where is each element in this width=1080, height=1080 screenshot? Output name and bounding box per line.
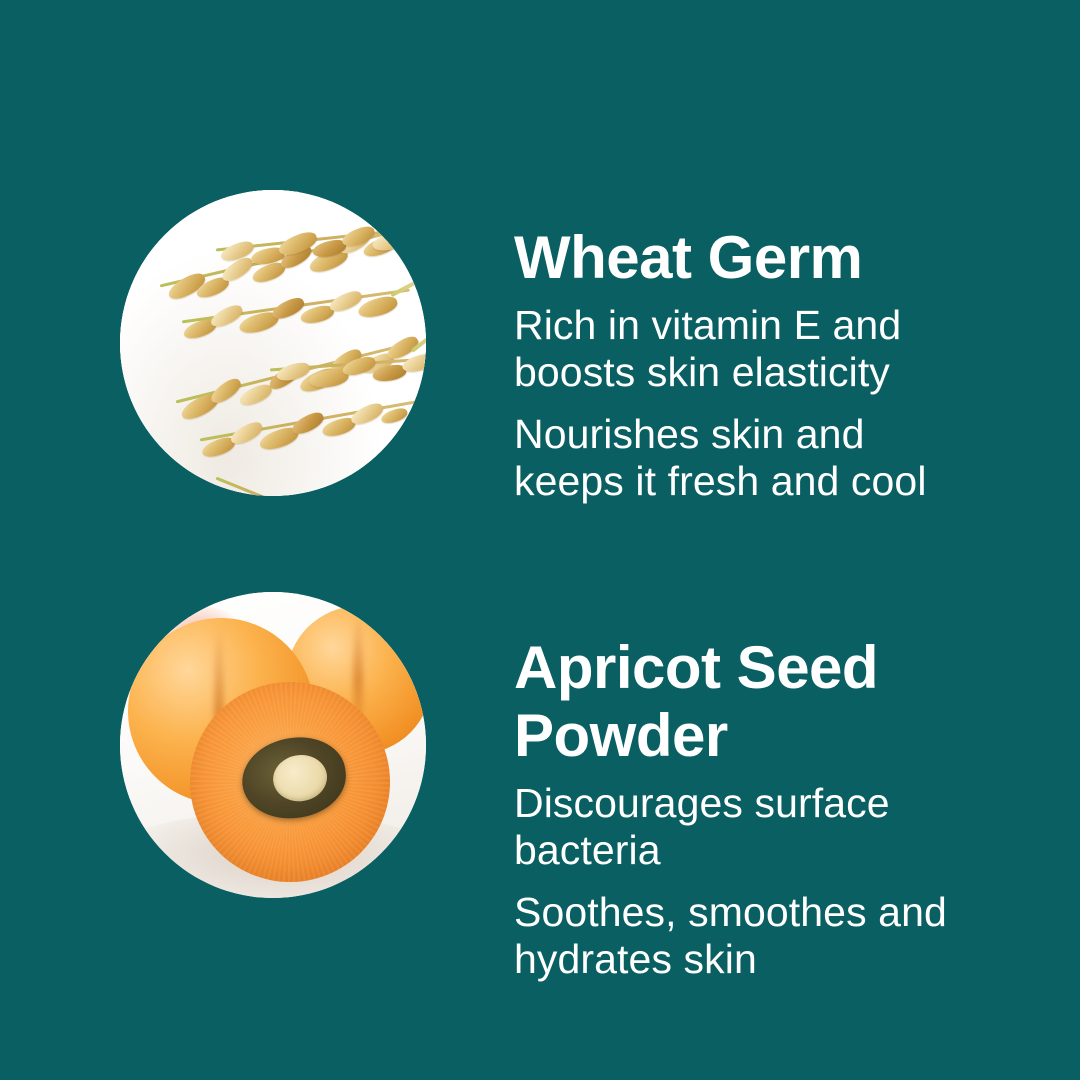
ingredient-benefits-panel: Wheat Germ Rich in vitamin E and boosts … (0, 0, 1080, 1080)
ingredient-benefit-apricot-1: Discourages surface bacteria (514, 780, 954, 874)
apricot-seed-kernel (270, 751, 330, 804)
wheat-grain-cluster-icon (120, 190, 426, 496)
ingredient-card-apricot-seed-powder: Apricot Seed Powder Discourages surface … (0, 592, 954, 983)
ingredient-benefit-apricot-2: Soothes, smoothes and hydrates skin (514, 889, 954, 983)
apricot-half-icon (190, 682, 390, 882)
ingredient-benefit-wheat-germ-1: Rich in vitamin E and boosts skin elasti… (514, 302, 954, 396)
ingredient-title-wheat-germ: Wheat Germ (514, 224, 954, 292)
apricot-seed-text-column: Apricot Seed Powder Discourages surface … (514, 592, 954, 983)
wheat-germ-text-column: Wheat Germ Rich in vitamin E and boosts … (514, 190, 954, 505)
apricot-seed-image (120, 592, 426, 898)
wheat-germ-image (120, 190, 426, 496)
ingredient-card-wheat-germ: Wheat Germ Rich in vitamin E and boosts … (0, 190, 954, 505)
ingredient-title-apricot-seed-powder: Apricot Seed Powder (514, 634, 954, 770)
ingredient-benefit-wheat-germ-2: Nourishes skin and keeps it fresh and co… (514, 411, 954, 505)
